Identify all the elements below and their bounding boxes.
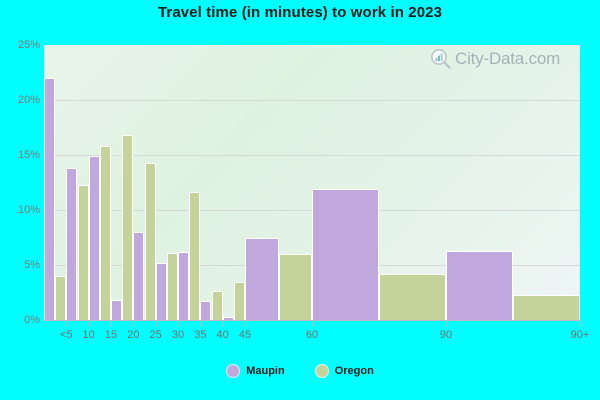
bar-oregon-15-20[interactable] <box>122 135 133 320</box>
x-axis-tick <box>89 320 90 327</box>
bar-series-group <box>44 45 580 320</box>
plot-area <box>44 45 580 320</box>
x-axis-tick-label: 90+ <box>571 329 590 341</box>
bar-maupin-90+[interactable] <box>446 251 513 320</box>
x-axis-tick-label: 25 <box>150 329 162 341</box>
x-axis-tick <box>133 320 134 327</box>
chart-container: Travel time (in minutes) to work in 2023… <box>0 0 600 400</box>
bar-oregon-40-45[interactable] <box>234 282 245 321</box>
y-axis-tick-label: 15% <box>2 149 40 161</box>
y-axis-tick-label: 10% <box>2 204 40 216</box>
x-axis-tick-label: 30 <box>172 329 184 341</box>
watermark: City-Data.com <box>430 48 560 70</box>
bar-maupin-25-30[interactable] <box>156 263 167 320</box>
bar-oregon-60-90[interactable] <box>379 274 446 320</box>
x-axis-tick <box>156 320 157 327</box>
bar-maupin-35-40[interactable] <box>200 301 211 320</box>
y-axis-tick-label: 0% <box>2 314 40 326</box>
bar-maupin-30-35[interactable] <box>178 252 189 320</box>
bar-maupin-20-25[interactable] <box>133 232 144 320</box>
y-axis-tick-label: 20% <box>2 94 40 106</box>
bar-oregon-<5[interactable] <box>55 276 66 320</box>
bar-oregon-90+[interactable] <box>513 295 580 320</box>
x-axis-tick-label: 20 <box>127 329 139 341</box>
legend-label-oregon: Oregon <box>335 365 374 377</box>
city-data-logo-icon <box>430 48 452 70</box>
x-axis-tick-label: 15 <box>105 329 117 341</box>
x-axis-tick <box>200 320 201 327</box>
legend-label-maupin: Maupin <box>246 365 285 377</box>
legend-swatch-maupin <box>226 364 240 378</box>
watermark-text: City-Data.com <box>455 49 560 69</box>
bar-maupin-10-15[interactable] <box>89 156 100 320</box>
x-axis-tick <box>111 320 112 327</box>
x-axis-tick <box>66 320 67 327</box>
bar-oregon-10-15[interactable] <box>100 146 111 320</box>
chart-legend: Maupin Oregon <box>0 364 600 378</box>
x-axis-tick-label: 35 <box>194 329 206 341</box>
chart-title: Travel time (in minutes) to work in 2023 <box>0 4 600 21</box>
bar-oregon-35-40[interactable] <box>212 291 223 320</box>
x-axis-labels: <51015202530354045609090+ <box>0 329 600 349</box>
x-axis-tick-label: 10 <box>83 329 95 341</box>
bar-maupin-15-20[interactable] <box>111 300 122 320</box>
bar-maupin-60-90[interactable] <box>312 189 379 320</box>
y-axis-tick-label: 5% <box>2 259 40 271</box>
x-axis-tick-label: 40 <box>217 329 229 341</box>
x-axis-tick <box>223 320 224 327</box>
bar-oregon-25-30[interactable] <box>167 253 178 320</box>
x-axis-tick <box>446 320 447 327</box>
legend-swatch-oregon <box>315 364 329 378</box>
x-axis-tick-label: 45 <box>239 329 251 341</box>
legend-item-oregon[interactable]: Oregon <box>315 364 374 378</box>
x-axis-tick <box>580 320 581 327</box>
bar-maupin-5-10[interactable] <box>66 168 77 320</box>
bar-oregon-30-35[interactable] <box>189 192 200 320</box>
bar-oregon-45-60[interactable] <box>279 254 313 320</box>
x-axis-ticks <box>44 320 580 328</box>
bar-oregon-5-10[interactable] <box>78 185 89 320</box>
bar-maupin-45-60[interactable] <box>245 238 279 321</box>
y-axis-tick-label: 25% <box>2 39 40 51</box>
x-axis-tick-label: 90 <box>440 329 452 341</box>
x-axis-tick-label: 60 <box>306 329 318 341</box>
bar-maupin-<5[interactable] <box>44 78 55 320</box>
x-axis-tick <box>245 320 246 327</box>
legend-item-maupin[interactable]: Maupin <box>226 364 285 378</box>
x-axis-tick-label: <5 <box>60 329 73 341</box>
bar-oregon-20-25[interactable] <box>145 163 156 320</box>
x-axis-tick <box>312 320 313 327</box>
x-axis-tick <box>178 320 179 327</box>
